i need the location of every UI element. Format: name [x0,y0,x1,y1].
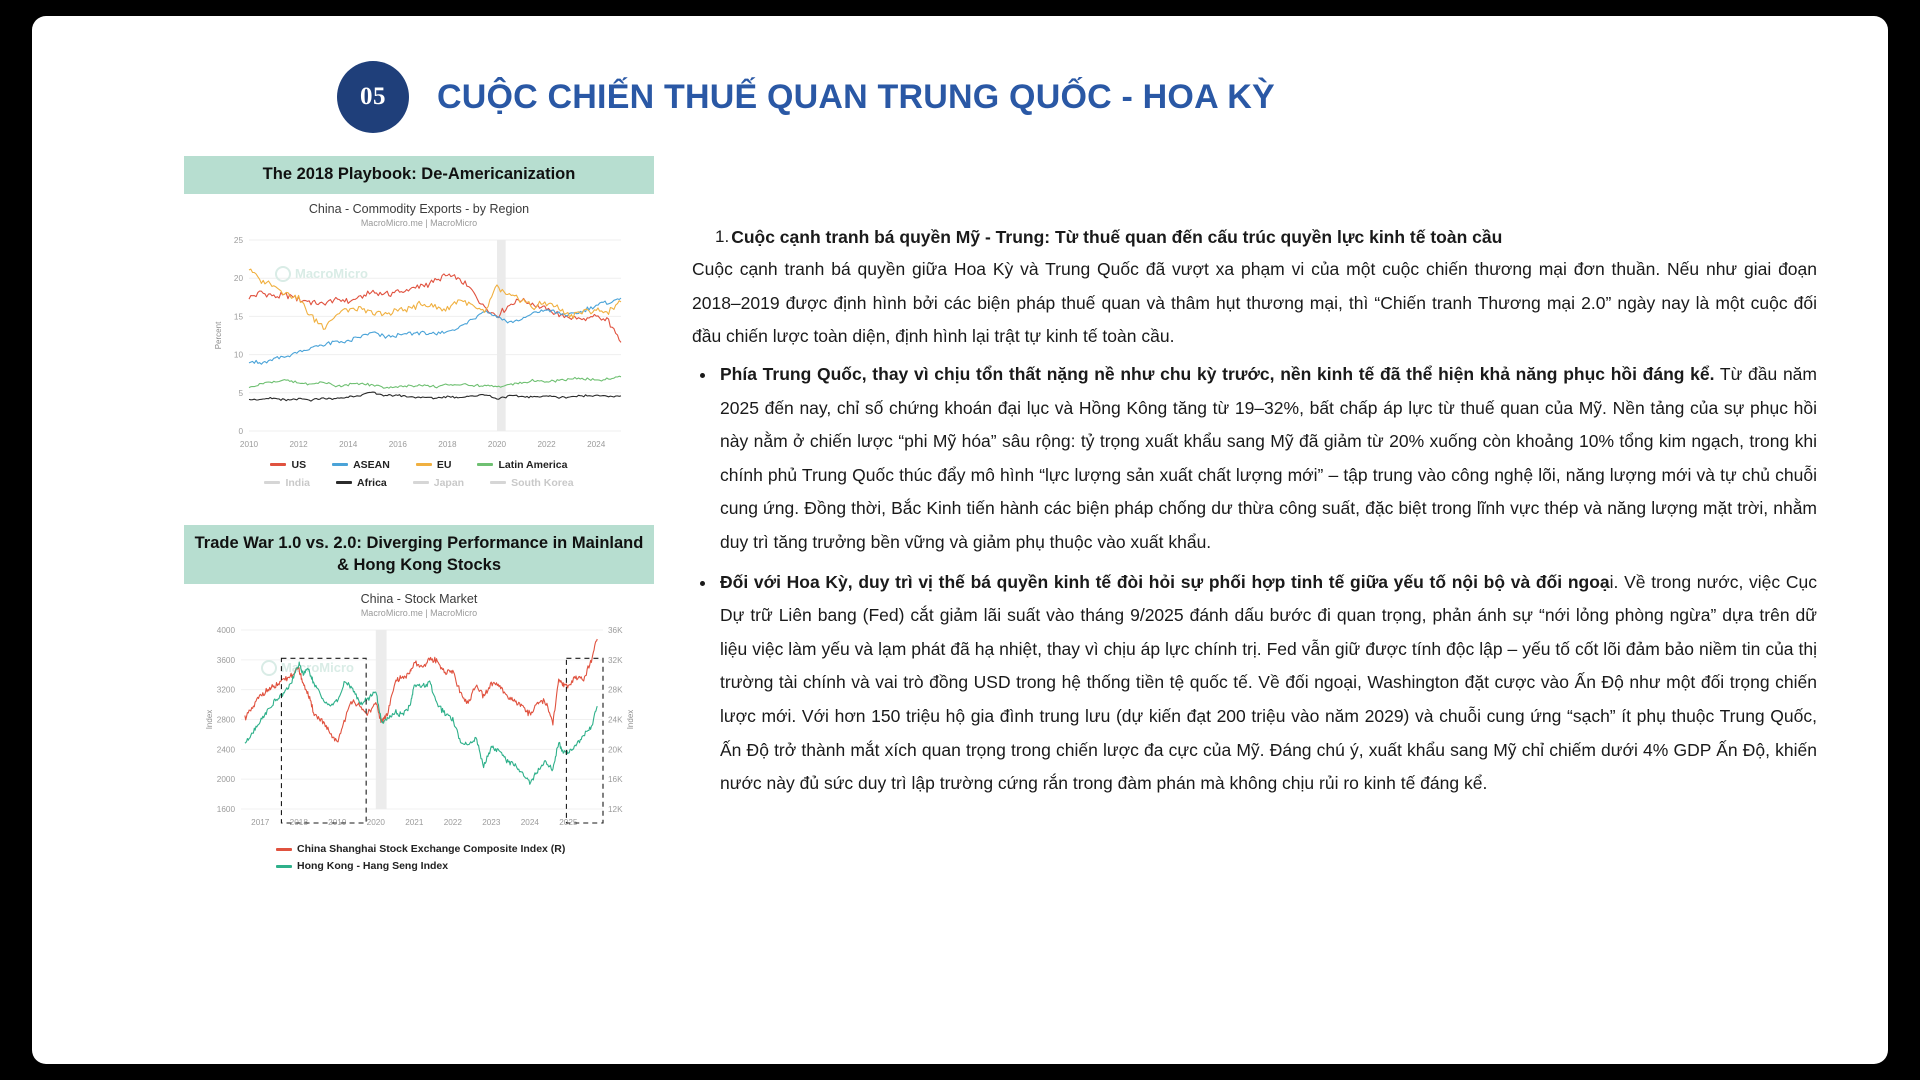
chart1-legend-row-1: US ASEAN EU Latin America [184,459,654,471]
svg-text:2022: 2022 [537,440,556,449]
legend-label-latin-america: Latin America [498,459,567,471]
svg-text:Percent: Percent [214,321,223,349]
svg-text:MacroMicro: MacroMicro [295,266,368,281]
svg-text:2016: 2016 [389,440,408,449]
svg-text:2010: 2010 [240,440,259,449]
svg-text:2021: 2021 [405,818,424,827]
legend-label-south-korea: South Korea [511,477,573,489]
legend-item-south-korea[interactable]: South Korea [490,477,573,489]
legend-item-india[interactable]: India [264,477,310,489]
svg-text:2800: 2800 [217,716,236,725]
svg-text:Index: Index [626,710,635,730]
svg-text:3200: 3200 [217,686,236,695]
chart1-source: MacroMicro.me | MacroMicro [184,218,654,228]
svg-text:2020: 2020 [367,818,386,827]
legend-item-latin-america[interactable]: Latin America [477,459,567,471]
legend-label-japan: Japan [434,477,464,489]
svg-text:12K: 12K [608,805,623,814]
svg-text:2023: 2023 [482,818,501,827]
legend-swatch-japan [413,481,429,484]
bullet-1-rest: Từ đầu năm 2025 đến nay, chỉ số chứng kh… [720,364,1817,552]
svg-text:32K: 32K [608,656,623,665]
svg-text:Index: Index [205,710,214,730]
legend-label-africa: Africa [357,477,387,489]
svg-text:2024: 2024 [521,818,540,827]
bullet-list: Phía Trung Quốc, thay vì chịu tổn thất n… [692,358,1817,801]
svg-text:16K: 16K [608,775,623,784]
legend-item-japan[interactable]: Japan [413,477,464,489]
legend-label-india: India [285,477,310,489]
chart2-plot: 160012K200016K240020K280024K320028K36003… [199,622,639,837]
svg-text:2000: 2000 [217,775,236,784]
bullet-1-bold: Phía Trung Quốc, thay vì chịu tổn thất n… [720,364,1715,384]
intro-paragraph: Cuộc cạnh tranh bá quyền giữa Hoa Kỳ và … [692,253,1817,354]
svg-text:3600: 3600 [217,656,236,665]
legend-swatch-shanghai-composite [276,848,292,851]
chart1-legend-row-2: India Africa Japan South Korea [184,477,654,489]
legend-label-hang-seng: Hong Kong - Hang Seng Index [297,860,448,872]
charts-column: The 2018 Playbook: De-Americanization Ch… [184,156,654,872]
slide-canvas: 05 CUỘC CHIẾN THUẾ QUAN TRUNG QUỐC - HOA… [32,16,1888,1064]
legend-label-shanghai-composite: China Shanghai Stock Exchange Composite … [297,843,565,855]
svg-text:2400: 2400 [217,746,236,755]
numbered-heading: 1. Cuộc cạnh tranh bá quyền Mỹ - Trung: … [692,224,1817,250]
legend-swatch-latin-america [477,463,493,466]
svg-text:MacroMicro: MacroMicro [281,660,354,675]
panel-heading-2: Trade War 1.0 vs. 2.0: Diverging Perform… [184,525,654,585]
svg-text:1600: 1600 [217,805,236,814]
list-item: Đối với Hoa Kỳ, duy trì vị thế bá quyền … [692,566,1817,801]
svg-text:2022: 2022 [444,818,463,827]
legend-label-us: US [291,459,306,471]
svg-text:24K: 24K [608,716,623,725]
legend-item-eu[interactable]: EU [416,459,452,471]
svg-text:2017: 2017 [251,818,270,827]
svg-text:2020: 2020 [488,440,507,449]
svg-text:2012: 2012 [289,440,308,449]
svg-text:15: 15 [234,312,244,321]
svg-text:25: 25 [234,236,244,245]
legend-swatch-eu [416,463,432,466]
panel-heading-1: The 2018 Playbook: De-Americanization [184,156,654,194]
svg-text:20: 20 [234,274,244,283]
chart2-legend: China Shanghai Stock Exchange Composite … [184,843,654,872]
svg-text:20K: 20K [608,746,623,755]
chart2-title: China - Stock Market [184,592,654,606]
svg-text:10: 10 [234,350,244,359]
list-number: 1. [692,224,729,250]
heading-text: Cuộc cạnh tranh bá quyền Mỹ - Trung: Từ … [731,224,1502,250]
svg-text:4000: 4000 [217,626,236,635]
svg-text:2024: 2024 [587,440,606,449]
list-item: Phía Trung Quốc, thay vì chịu tổn thất n… [692,358,1817,560]
svg-text:2014: 2014 [339,440,358,449]
legend-item-asean[interactable]: ASEAN [332,459,390,471]
bullet-2-rest: i. Về trong nước, việc Cục Dự trữ Liên b… [720,572,1817,794]
chart2-source: MacroMicro.me | MacroMicro [184,608,654,618]
legend-label-asean: ASEAN [353,459,390,471]
legend-swatch-us [270,463,286,466]
svg-text:5: 5 [238,389,243,398]
legend-swatch-asean [332,463,348,466]
bullet-2-bold: Đối với Hoa Kỳ, duy trì vị thế bá quyền … [720,572,1610,592]
legend-swatch-hang-seng [276,865,292,868]
chart1-plot: 0510152025201020122014201620182020202220… [209,232,629,457]
svg-text:28K: 28K [608,686,623,695]
page-title: CUỘC CHIẾN THUẾ QUAN TRUNG QUỐC - HOA KỲ [437,78,1275,117]
svg-text:36K: 36K [608,626,623,635]
svg-text:2018: 2018 [438,440,457,449]
slide-header: 05 CUỘC CHIẾN THUẾ QUAN TRUNG QUỐC - HOA… [337,61,1275,133]
legend-item-hang-seng[interactable]: Hong Kong - Hang Seng Index [276,860,448,872]
chart1-title: China - Commodity Exports - by Region [184,202,654,216]
svg-text:0: 0 [238,427,243,436]
content-column: 1. Cuộc cạnh tranh bá quyền Mỹ - Trung: … [692,224,1817,807]
chart-china-stock-market: China - Stock Market MacroMicro.me | Mac… [184,584,654,872]
section-number-badge: 05 [337,61,409,133]
legend-item-us[interactable]: US [270,459,306,471]
legend-label-eu: EU [437,459,452,471]
chart-commodity-exports: China - Commodity Exports - by Region Ma… [184,194,654,489]
legend-item-africa[interactable]: Africa [336,477,387,489]
legend-swatch-africa [336,481,352,484]
legend-swatch-south-korea [490,481,506,484]
legend-swatch-india [264,481,280,484]
legend-item-shanghai-composite[interactable]: China Shanghai Stock Exchange Composite … [276,843,565,855]
